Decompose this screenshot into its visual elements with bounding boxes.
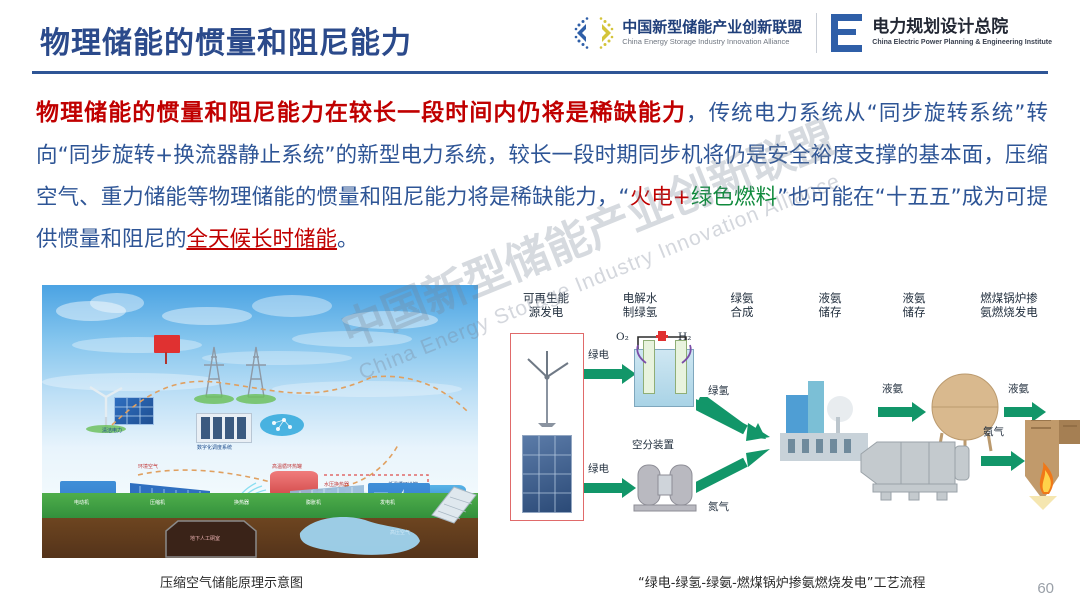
- label-air-separation-unit: 空分装置: [632, 437, 674, 452]
- slide-header: 物理储能的惯量和阻尼能力: [0, 0, 1080, 76]
- title-underline-rule: [32, 71, 1048, 74]
- label-green-hydrogen: 绿氢: [708, 383, 729, 398]
- stage-title-renewable-generation: 可再生能源发电: [506, 291, 586, 320]
- cepp-name-en: China Electric Power Planning & Engineer…: [872, 39, 1052, 47]
- stage-title-coal-boiler-ammonia-cofiring: 燃煤锅炉掺氨燃烧发电: [962, 291, 1056, 320]
- cepp-logo-text: 电力规划设计总院 China Electric Power Planning &…: [872, 19, 1052, 47]
- cloud-shape: [252, 295, 332, 317]
- label-o2: O₂: [616, 331, 629, 343]
- label-underground-cavern: 地下人工硐室: [190, 535, 220, 542]
- label-expander: 膨胀机: [306, 499, 321, 506]
- label-liquid-ammonia-2: 液氨: [1008, 381, 1029, 396]
- wind-turbine-icon: [520, 343, 574, 427]
- label-green-power-1: 绿电: [588, 347, 609, 362]
- highlight-plus: +: [673, 185, 691, 210]
- arrow-liquid-ammonia-1: [878, 407, 912, 417]
- logo-bar: 中国新型储能产业创新联盟 China Energy Storage Indust…: [573, 12, 1052, 54]
- alliance-emblem-icon: [573, 12, 615, 54]
- arrow-head-icon: [912, 402, 926, 422]
- arrow-nitrogen: [696, 435, 772, 495]
- highlight-all-weather-storage: 全天候长时储能: [187, 227, 338, 252]
- figure-compressed-air-energy-storage: 清洁电力 数字化调度系统 高温循环热罐: [42, 285, 478, 558]
- page-title: 物理储能的惯量和阻尼能力: [40, 18, 412, 62]
- label-high-press-air: 高压空气: [390, 529, 410, 536]
- air-separation-unit-icon: [632, 455, 700, 517]
- arrow-head-icon: [1032, 402, 1046, 422]
- label-green-power-2: 绿电: [588, 461, 609, 476]
- ammonia-cracker-icon: [855, 432, 985, 502]
- cloud-shape: [162, 307, 252, 325]
- stage-title-water-electrolysis: 电解水制绿氢: [600, 291, 680, 320]
- cloud-shape: [90, 293, 144, 313]
- caption-left-figure: 压缩空气储能原理示意图: [160, 572, 303, 591]
- alliance-logo-text: 中国新型储能产业创新联盟 China Energy Storage Indust…: [622, 20, 802, 46]
- pv-panel-icon: [522, 435, 572, 513]
- logo-divider: [816, 13, 817, 53]
- label-compressor: 压缩机: [150, 499, 165, 506]
- logo-china-energy-storage-alliance: 中国新型储能产业创新联盟 China Energy Storage Indust…: [573, 12, 802, 54]
- slide: 物理储能的惯量和阻尼能力: [0, 0, 1080, 607]
- label-heat-exchanger: 换热器: [234, 499, 249, 506]
- body-segment-3: 。: [337, 227, 359, 252]
- body-paragraph: 物理储能的惯量和阻尼能力在较长一段时间内仍将是稀缺能力，传统电力系统从“同步旋转…: [36, 92, 1048, 261]
- lead-statement: 物理储能的惯量和阻尼能力在较长一段时间内仍将是稀缺能力: [36, 100, 686, 126]
- alliance-name-cn: 中国新型储能产业创新联盟: [622, 20, 802, 36]
- label-ammonia-gas: 氨气: [983, 424, 1004, 439]
- label-ambient-air: 环境空气: [138, 463, 158, 470]
- caption-right-figure: “绿电-绿氢-绿氨-燃煤锅炉掺氨燃烧发电”工艺流程: [638, 572, 926, 591]
- stage-title-green-ammonia-synthesis: 绿氨合成: [712, 291, 772, 320]
- pv-array-icon: [428, 481, 478, 525]
- label-generator: 发电机: [380, 499, 395, 506]
- label-nitrogen: 氮气: [708, 499, 729, 514]
- cepp-name-cn: 电力规划设计总院: [872, 19, 1052, 37]
- highlight-thermal-power: 火电: [630, 185, 673, 210]
- arrow-green-power-2: [584, 483, 622, 493]
- stage-title-liquid-ammonia-storage-2: 液氨储存: [884, 291, 944, 320]
- gas-bubble-arrows-icon: [628, 341, 700, 369]
- page-number: 60: [1037, 580, 1054, 597]
- coal-fired-boiler-icon: [1023, 420, 1080, 518]
- label-motor: 电动机: [74, 499, 89, 506]
- arrow-ammonia-gas: [981, 456, 1011, 466]
- ammonia-cracker-and-boiler-group: 氨气: [855, 420, 1080, 560]
- alliance-name-en: China Energy Storage Industry Innovation…: [622, 38, 802, 46]
- stage-title-liquid-ammonia-storage-1: 液氨储存: [800, 291, 860, 320]
- arrow-liquid-ammonia-2: [1004, 407, 1032, 417]
- cepp-emblem-icon: [831, 14, 865, 52]
- arrow-green-power-1: [584, 369, 622, 379]
- label-liquid-ammonia-1: 液氨: [882, 381, 903, 396]
- highlight-green-fuel: 绿色燃料: [691, 185, 777, 210]
- logo-china-electric-power-planning-institute: 电力规划设计总院 China Electric Power Planning &…: [831, 14, 1052, 52]
